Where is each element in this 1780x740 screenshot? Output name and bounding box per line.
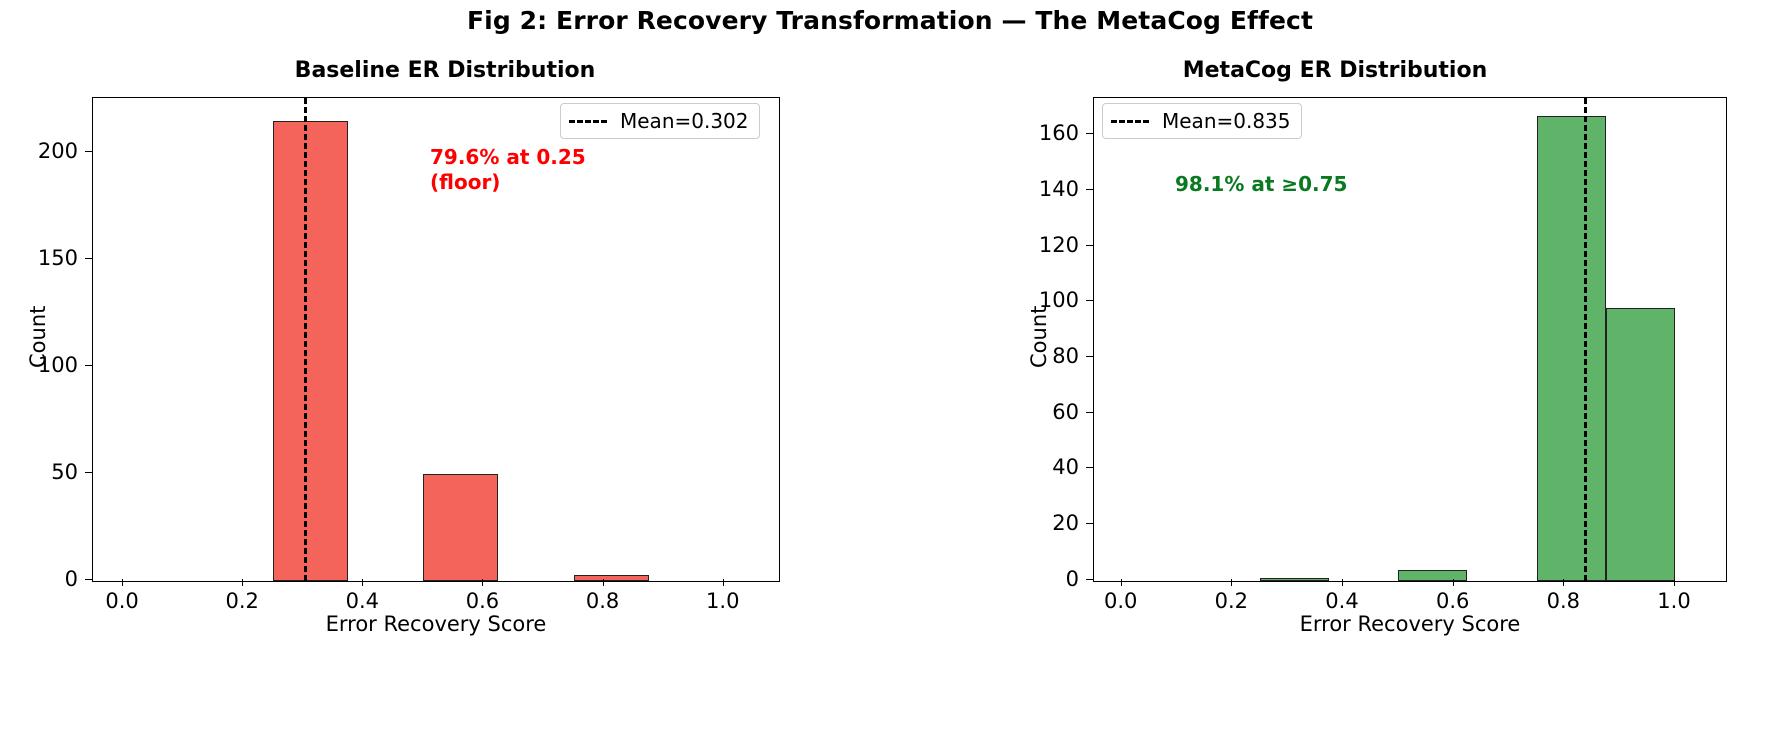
- x-tick-mark: [1674, 579, 1675, 586]
- y-tick-mark: [1086, 300, 1093, 301]
- x-tick-label: 0.8: [1518, 591, 1608, 612]
- x-tick-label: 0.0: [1076, 591, 1166, 612]
- mean-line: [1584, 98, 1587, 581]
- y-tick-mark: [85, 151, 92, 152]
- x-tick-label: 0.4: [317, 591, 407, 612]
- x-tick-label: 1.0: [1629, 591, 1719, 612]
- legend-label-metacog: Mean=0.835: [1162, 109, 1291, 133]
- x-tick-mark: [362, 579, 363, 586]
- mean-line-swatch-icon: [1111, 120, 1149, 123]
- panel-baseline: Baseline ER Distribution 050100150200 0.…: [0, 0, 890, 740]
- x-tick-mark: [482, 579, 483, 586]
- y-tick-mark: [85, 258, 92, 259]
- x-tick-label: 0.8: [558, 591, 648, 612]
- y-tick-mark: [1086, 412, 1093, 413]
- y-axis-label-metacog: Count: [1027, 306, 1051, 368]
- mean-line-swatch-icon: [569, 120, 607, 123]
- x-tick-label: 0.2: [1186, 591, 1276, 612]
- figure-canvas: Fig 2: Error Recovery Transformation — T…: [0, 0, 1780, 740]
- x-tick-label: 0.6: [1408, 591, 1498, 612]
- x-axis-label-baseline: Error Recovery Score: [92, 612, 780, 636]
- histogram-bar: [1606, 308, 1675, 581]
- annotation-metacog: 98.1% at ≥0.75: [1175, 172, 1347, 197]
- y-tick-label: 50: [0, 462, 78, 483]
- y-tick-mark: [85, 472, 92, 473]
- plot-area-metacog: [1094, 98, 1726, 581]
- y-tick-label: 20: [997, 513, 1079, 534]
- y-tick-mark: [1086, 245, 1093, 246]
- y-tick-label: 150: [0, 248, 78, 269]
- legend-baseline[interactable]: Mean=0.302: [560, 103, 760, 139]
- histogram-bar: [423, 474, 498, 581]
- x-tick-label: 0.4: [1297, 591, 1387, 612]
- panel-metacog: MetaCog ER Distribution 0204060801001201…: [890, 0, 1780, 740]
- x-tick-mark: [1563, 579, 1564, 586]
- x-tick-mark: [1453, 579, 1454, 586]
- legend-label-baseline: Mean=0.302: [620, 109, 749, 133]
- x-tick-mark: [723, 579, 724, 586]
- histogram-bar: [1537, 116, 1606, 581]
- histogram-bar: [1260, 578, 1329, 581]
- y-tick-mark: [1086, 133, 1093, 134]
- x-tick-mark: [1121, 579, 1122, 586]
- subplot-title-metacog: MetaCog ER Distribution: [890, 58, 1780, 83]
- x-tick-label: 1.0: [678, 591, 768, 612]
- annotation-baseline: 79.6% at 0.25 (floor): [430, 145, 586, 195]
- legend-metacog[interactable]: Mean=0.835: [1102, 103, 1302, 139]
- subplot-title-baseline: Baseline ER Distribution: [0, 58, 890, 83]
- y-tick-mark: [85, 579, 92, 580]
- y-tick-label: 60: [997, 402, 1079, 423]
- mean-line: [304, 98, 307, 581]
- histogram-bar: [1398, 570, 1467, 581]
- y-tick-label: 40: [997, 457, 1079, 478]
- y-tick-label: 160: [997, 123, 1079, 144]
- histogram-bar: [273, 121, 348, 581]
- y-tick-mark: [85, 365, 92, 366]
- x-tick-mark: [603, 579, 604, 586]
- y-tick-label: 0: [0, 569, 78, 590]
- x-tick-label: 0.0: [77, 591, 167, 612]
- x-tick-mark: [1342, 579, 1343, 586]
- x-axis-label-metacog: Error Recovery Score: [1093, 612, 1727, 636]
- y-tick-mark: [1086, 467, 1093, 468]
- x-tick-label: 0.2: [197, 591, 287, 612]
- y-tick-label: 140: [997, 179, 1079, 200]
- y-tick-mark: [1086, 579, 1093, 580]
- y-tick-label: 0: [997, 569, 1079, 590]
- x-tick-label: 0.6: [437, 591, 527, 612]
- y-axis-label-baseline: Count: [26, 306, 50, 368]
- histogram-bar: [574, 575, 649, 581]
- x-tick-mark: [1231, 579, 1232, 586]
- y-tick-mark: [1086, 356, 1093, 357]
- y-tick-label: 200: [0, 141, 78, 162]
- y-tick-mark: [1086, 523, 1093, 524]
- x-tick-mark: [122, 579, 123, 586]
- y-tick-mark: [1086, 189, 1093, 190]
- axes-metacog: [1093, 97, 1727, 582]
- x-tick-mark: [242, 579, 243, 586]
- y-tick-label: 120: [997, 235, 1079, 256]
